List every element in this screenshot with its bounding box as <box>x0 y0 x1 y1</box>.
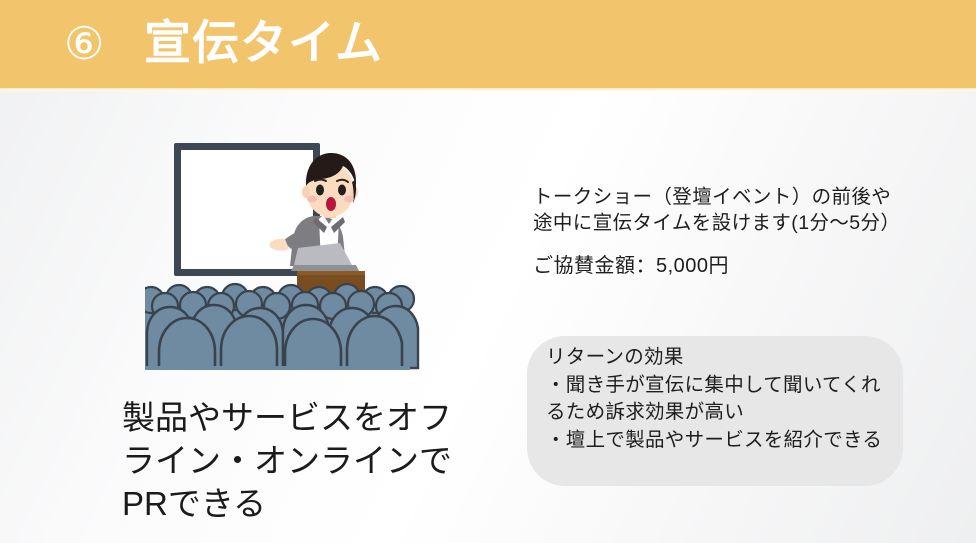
callout-bullet-2: ・壇上で製品やサービスを紹介できる <box>546 427 886 455</box>
description-text-block: トークショー（登壇イベント）の前後や 途中に宣伝タイムを設けます(1分〜5分） <box>533 184 908 236</box>
page-title: 宣伝タイム <box>144 11 383 75</box>
return-benefits-callout-text: リターンの効果 ・聞き手が宣伝に集中して聞いてくれるため訴求効果が高い ・壇上で… <box>546 344 886 454</box>
return-benefits-callout-box: リターンの効果 ・聞き手が宣伝に集中して聞いてくれるため訴求効果が高い ・壇上で… <box>527 336 903 486</box>
callout-bullet-1: ・聞き手が宣伝に集中して聞いてくれるため訴求効果が高い <box>546 372 886 427</box>
description-line-2: 途中に宣伝タイムを設けます(1分〜5分） <box>533 210 908 236</box>
illustration-caption: 製品やサービスをオフライン・オンラインでPRできる <box>122 396 452 525</box>
sponsorship-amount-label: ご協賛金額：5,000円 <box>533 252 729 280</box>
section-number-badge: ⑥ <box>64 16 104 72</box>
slide-canvas: ⑥ 宣伝タイム <box>0 0 976 543</box>
description-line-1: トークショー（登壇イベント）の前後や <box>533 184 908 210</box>
presenter-at-podium-with-audience-illustration <box>145 120 425 370</box>
header-underline-divider <box>0 88 976 91</box>
callout-heading: リターンの効果 <box>546 344 886 372</box>
audience-silhouettes-graphic <box>145 284 418 370</box>
